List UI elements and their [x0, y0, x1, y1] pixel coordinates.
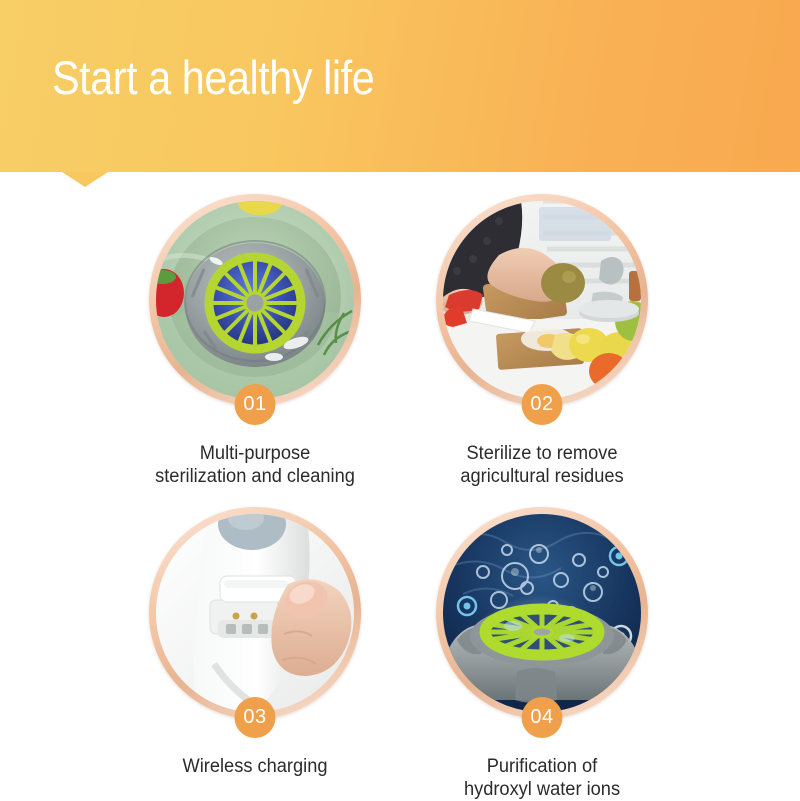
feature-badge-03: 03 [235, 697, 276, 738]
feature-badge-01: 01 [235, 384, 276, 425]
feature-caption-02: Sterilize to remove agricultural residue… [403, 442, 681, 488]
page-title: Start a healthy life [52, 50, 374, 106]
feature-card-03[interactable]: 03 Wireless charging [110, 503, 400, 778]
header-banner: Start a healthy life [0, 0, 800, 172]
photo-sterilizer-in-green-water [156, 201, 354, 399]
feature-card-04[interactable]: 04 Purification of hydroxyl water ions [397, 503, 687, 801]
feature-caption-04: Purification of hydroxyl water ions [403, 755, 681, 801]
feature-photo-01[interactable]: 01 [149, 194, 361, 406]
feature-photo-04[interactable]: 04 [436, 507, 648, 719]
feature-caption-01: Multi-purpose sterilization and cleaning [116, 442, 394, 488]
photo-kitchen-fruit-preparation [443, 201, 641, 399]
feature-badge-04: 04 [522, 697, 563, 738]
photo-wireless-charging-connector [156, 514, 354, 712]
feature-badge-02: 02 [522, 384, 563, 425]
feature-photo-02[interactable]: 02 [436, 194, 648, 406]
feature-caption-03: Wireless charging [116, 755, 394, 778]
feature-card-01[interactable]: 01 Multi-purpose sterilization and clean… [110, 190, 400, 488]
feature-photo-03[interactable]: 03 [149, 507, 361, 719]
photo-sterilizer-underwater-bubbles [443, 514, 641, 712]
feature-card-02[interactable]: 02 Sterilize to remove agricultural resi… [397, 190, 687, 488]
banner-tail-pointer [62, 172, 108, 187]
